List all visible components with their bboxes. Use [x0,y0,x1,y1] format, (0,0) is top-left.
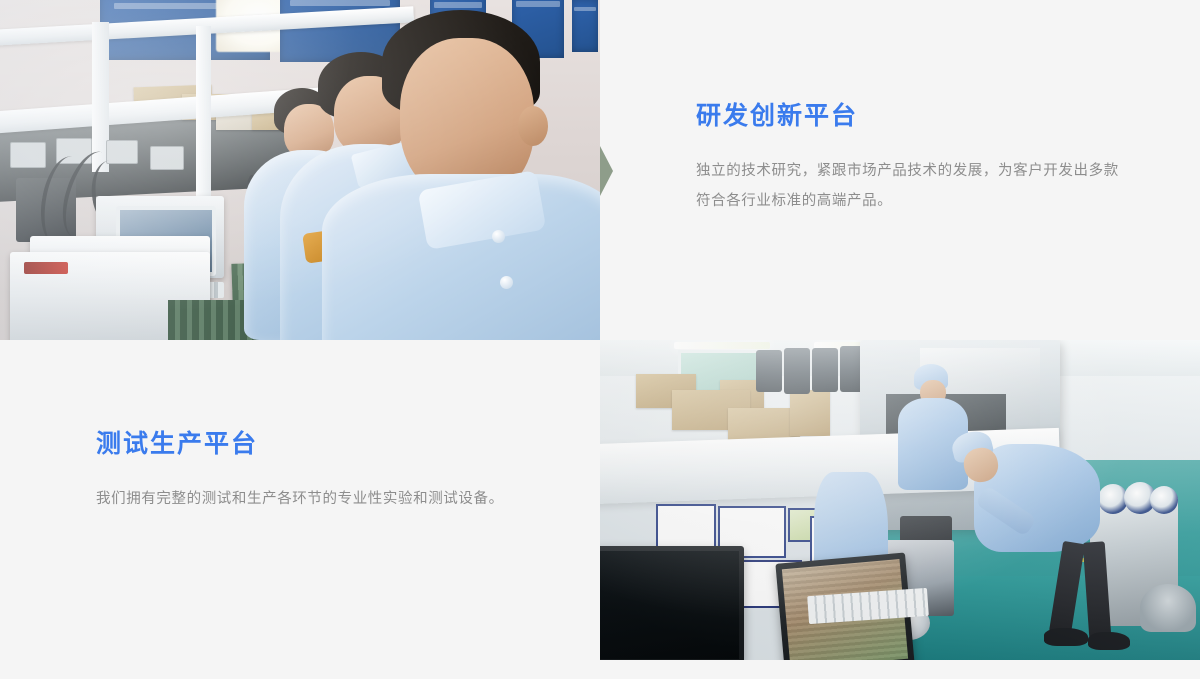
worker-shoe [1088,632,1130,650]
coat-button [500,276,513,289]
rd-platform-image [0,0,600,340]
power-socket [10,142,46,168]
rd-arrow-pointer-icon [600,146,613,196]
rd-platform-title: 研发创新平台 [696,100,1166,134]
rd-lab-scene [0,0,600,340]
power-socket [150,146,184,170]
cardboard-box [790,390,830,436]
production-platform-text-block: 测试生产平台 我们拥有完整的测试和生产各环节的专业性实验和测试设备。 [96,428,566,514]
machine-unit [812,348,838,392]
platform-showcase-page: 研发创新平台 独立的技术研究，紧跟市场产品技术的发展，为客户开发出多款 符合各行… [0,0,1200,679]
ceiling-light [674,342,770,349]
description-line: 符合各行业标准的高端产品。 [696,186,1166,216]
posted-document [656,504,716,552]
monitor-screen [600,551,739,659]
machine-unit [756,350,782,392]
wall-sign [572,0,598,52]
component-reel [1150,486,1178,514]
worker-shoe [1044,628,1088,646]
rd-platform-description: 独立的技术研究，紧跟市场产品技术的发展，为客户开发出多款 符合各行业标准的高端产… [696,156,1166,217]
stool [1140,584,1196,632]
production-platform-image [600,340,1200,660]
coat-button [492,230,505,243]
rd-platform-text-block: 研发创新平台 独立的技术研究，紧跟市场产品技术的发展，为客户开发出多款 符合各行… [696,100,1166,217]
test-monitor [600,546,744,660]
instrument-display [24,262,68,274]
technician-ear [518,106,548,146]
description-line: 独立的技术研究，紧跟市场产品技术的发展，为客户开发出多款 [696,156,1166,186]
machine-unit [784,348,810,394]
description-line: 我们拥有完整的测试和生产各环节的专业性实验和测试设备。 [96,484,566,514]
production-platform-title: 测试生产平台 [96,428,566,462]
production-platform-description: 我们拥有完整的测试和生产各环节的专业性实验和测试设备。 [96,484,566,514]
